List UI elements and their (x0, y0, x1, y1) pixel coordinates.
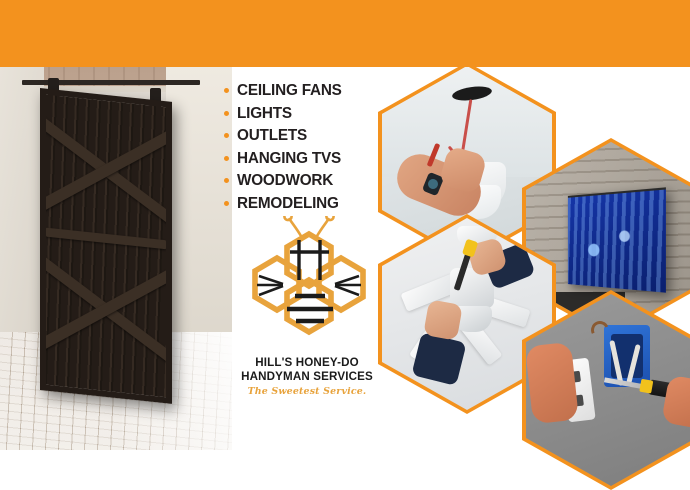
hand (423, 300, 463, 341)
barn-door-panel (40, 88, 172, 404)
list-item: CEILING FANS (224, 82, 394, 100)
logo-name-line1: HILL'S HONEY-DO (222, 356, 392, 370)
bullet-dot-icon (224, 156, 229, 161)
door-brace (46, 228, 166, 250)
list-item: HANGING TVS (224, 150, 394, 168)
service-label: LIGHTS (237, 105, 292, 123)
hexagon-photo-cluster (384, 62, 690, 450)
service-label: HANGING TVS (237, 150, 341, 168)
services-list: CEILING FANS LIGHTS OUTLETS HANGING TVS … (224, 82, 394, 217)
company-logo: HILL'S HONEY-DO HANDYMAN SERVICES The Sw… (222, 216, 392, 450)
barn-door-photo (0, 66, 232, 450)
bullet-dot-icon (224, 111, 229, 116)
list-item: OUTLETS (224, 127, 394, 145)
logo-name-line2: HANDYMAN SERVICES (222, 370, 392, 384)
honeycomb-bee-icon (233, 216, 385, 356)
logo-tagline: The Sweetest Service. (222, 386, 392, 397)
service-label: WOODWORK (237, 172, 333, 190)
service-label: OUTLETS (237, 127, 307, 145)
logo-company-name: HILL'S HONEY-DO HANDYMAN SERVICES (222, 356, 392, 383)
center-column: CEILING FANS LIGHTS OUTLETS HANGING TVS … (222, 66, 392, 450)
navy-sleeve (411, 332, 466, 386)
bullet-dot-icon (224, 88, 229, 93)
service-label: CEILING FANS (237, 82, 342, 100)
header-bar (0, 0, 690, 67)
tv-screen (568, 187, 667, 292)
hand (526, 342, 579, 424)
bullet-dot-icon (224, 178, 229, 183)
service-label: REMODELING (237, 195, 339, 213)
bullet-dot-icon (224, 133, 229, 138)
bullet-dot-icon (224, 201, 229, 206)
list-item: REMODELING (224, 195, 394, 213)
list-item: WOODWORK (224, 172, 394, 190)
list-item: LIGHTS (224, 105, 394, 123)
